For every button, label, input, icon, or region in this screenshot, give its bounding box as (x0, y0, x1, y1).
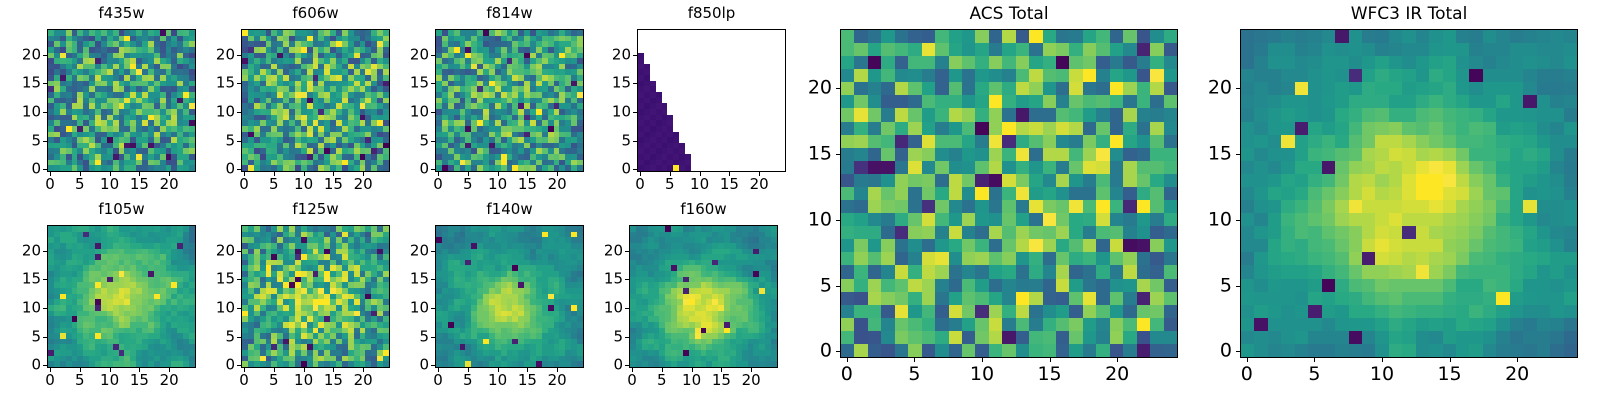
y-tick-f140w-5 (431, 337, 435, 338)
y-tick-wfc3_ir_total-10 (1236, 220, 1240, 221)
y-ticklabel-f850lp-5: 5 (621, 133, 631, 148)
x-tick-wfc3_ir_total-10 (1382, 358, 1383, 362)
panel-f125w: f125w0055101015152020 (181, 199, 404, 402)
x-ticklabel-f140w-0: 0 (433, 373, 443, 388)
y-tick-f606w-0 (237, 169, 241, 170)
x-ticklabel-wfc3_ir_total-20: 20 (1505, 365, 1529, 384)
y-tick-acs_total-0 (836, 351, 840, 352)
y-tick-f850lp-20 (633, 55, 637, 56)
y-ticklabel-f850lp-10: 10 (612, 104, 631, 119)
y-ticklabel-f160w-5: 5 (613, 329, 623, 344)
x-ticklabel-acs_total-5: 5 (908, 365, 920, 384)
y-ticklabel-f435w-15: 15 (22, 76, 41, 91)
panel-title-f435w: f435w (47, 6, 196, 21)
y-ticklabel-f160w-15: 15 (604, 272, 623, 287)
y-ticklabel-f125w-15: 15 (216, 272, 235, 287)
x-ticklabel-f160w-20: 20 (742, 373, 761, 388)
x-ticklabel-f125w-0: 0 (239, 373, 249, 388)
x-ticklabel-f814w-5: 5 (463, 177, 473, 192)
y-tick-f435w-0 (43, 169, 47, 170)
x-ticklabel-f606w-0: 0 (239, 177, 249, 192)
figure-panel-grid: f435w0055101015152020f606w00551010151520… (0, 0, 1600, 400)
y-tick-f125w-15 (237, 279, 241, 280)
heatmap-f435w (48, 30, 195, 171)
panel-title-f125w: f125w (241, 202, 390, 217)
x-ticklabel-acs_total-0: 0 (841, 365, 853, 384)
y-tick-f850lp-0 (633, 169, 637, 170)
panel-acs_total: ACS Total0055101015152020 (780, 3, 1192, 392)
y-tick-f435w-15 (43, 83, 47, 84)
x-tick-acs_total-15 (1050, 358, 1051, 362)
x-ticklabel-f160w-10: 10 (682, 373, 701, 388)
x-ticklabel-f140w-20: 20 (548, 373, 567, 388)
y-tick-f814w-15 (431, 83, 435, 84)
panel-f105w: f105w0055101015152020 (0, 199, 210, 402)
y-ticklabel-f140w-10: 10 (410, 300, 429, 315)
y-tick-f435w-10 (43, 112, 47, 113)
y-tick-f105w-20 (43, 251, 47, 252)
x-ticklabel-f814w-0: 0 (433, 177, 443, 192)
x-ticklabel-acs_total-15: 15 (1037, 365, 1061, 384)
y-ticklabel-f435w-0: 0 (31, 162, 41, 177)
x-tick-wfc3_ir_total-0 (1247, 358, 1248, 362)
y-tick-acs_total-15 (836, 154, 840, 155)
y-ticklabel-f850lp-20: 20 (612, 47, 631, 62)
y-ticklabel-wfc3_ir_total-15: 15 (1208, 145, 1232, 164)
y-tick-f606w-20 (237, 55, 241, 56)
y-tick-f160w-5 (625, 337, 629, 338)
x-ticklabel-f814w-10: 10 (488, 177, 507, 192)
x-ticklabel-f160w-0: 0 (627, 373, 637, 388)
y-tick-f140w-10 (431, 308, 435, 309)
y-tick-wfc3_ir_total-15 (1236, 154, 1240, 155)
panel-title-acs_total: ACS Total (840, 6, 1178, 23)
panel-title-f160w: f160w (629, 202, 778, 217)
x-ticklabel-acs_total-10: 10 (970, 365, 994, 384)
x-tick-wfc3_ir_total-20 (1517, 358, 1518, 362)
panel-f435w: f435w0055101015152020 (0, 3, 210, 206)
y-tick-f814w-20 (431, 55, 435, 56)
x-ticklabel-f850lp-10: 10 (690, 177, 709, 192)
y-tick-f125w-0 (237, 365, 241, 366)
heatmap-f850lp (638, 30, 785, 171)
y-tick-acs_total-20 (836, 88, 840, 89)
y-ticklabel-f814w-20: 20 (410, 47, 429, 62)
x-ticklabel-wfc3_ir_total-15: 15 (1437, 365, 1461, 384)
y-ticklabel-acs_total-0: 0 (820, 342, 832, 361)
panel-f140w: f140w0055101015152020 (375, 199, 598, 402)
x-tick-acs_total-20 (1117, 358, 1118, 362)
y-tick-f125w-10 (237, 308, 241, 309)
y-ticklabel-f160w-0: 0 (613, 358, 623, 373)
x-ticklabel-f435w-15: 15 (130, 177, 149, 192)
x-ticklabel-f435w-0: 0 (45, 177, 55, 192)
y-tick-f814w-10 (431, 112, 435, 113)
y-tick-f105w-0 (43, 365, 47, 366)
heatmap-wfc3_ir_total (1241, 30, 1577, 357)
x-ticklabel-f850lp-20: 20 (750, 177, 769, 192)
y-tick-f140w-20 (431, 251, 435, 252)
y-ticklabel-f435w-20: 20 (22, 47, 41, 62)
axes-f105w (47, 225, 196, 368)
x-ticklabel-f105w-20: 20 (160, 373, 179, 388)
panel-f850lp: f850lp0055101015152020 (577, 3, 800, 206)
y-ticklabel-f140w-0: 0 (419, 358, 429, 373)
panel-f160w: f160w0055101015152020 (569, 199, 792, 402)
axes-f125w (241, 225, 390, 368)
y-ticklabel-f606w-5: 5 (225, 133, 235, 148)
y-ticklabel-f105w-10: 10 (22, 300, 41, 315)
y-ticklabel-wfc3_ir_total-5: 5 (1220, 276, 1232, 295)
y-tick-f105w-10 (43, 308, 47, 309)
y-ticklabel-f160w-20: 20 (604, 243, 623, 258)
y-ticklabel-f105w-5: 5 (31, 329, 41, 344)
axes-f435w (47, 29, 196, 172)
y-ticklabel-f850lp-0: 0 (621, 162, 631, 177)
y-tick-f160w-15 (625, 279, 629, 280)
x-ticklabel-f105w-10: 10 (100, 373, 119, 388)
y-ticklabel-wfc3_ir_total-20: 20 (1208, 79, 1232, 98)
y-tick-f160w-20 (625, 251, 629, 252)
panel-title-wfc3_ir_total: WFC3 IR Total (1240, 6, 1578, 23)
heatmap-f140w (436, 226, 583, 367)
y-ticklabel-f606w-15: 15 (216, 76, 235, 91)
y-ticklabel-acs_total-20: 20 (808, 79, 832, 98)
x-ticklabel-wfc3_ir_total-5: 5 (1308, 365, 1320, 384)
y-tick-f105w-15 (43, 279, 47, 280)
y-tick-f606w-10 (237, 112, 241, 113)
axes-f814w (435, 29, 584, 172)
x-ticklabel-wfc3_ir_total-0: 0 (1241, 365, 1253, 384)
y-tick-wfc3_ir_total-0 (1236, 351, 1240, 352)
panel-title-f850lp: f850lp (637, 6, 786, 21)
y-ticklabel-f140w-20: 20 (410, 243, 429, 258)
y-ticklabel-f814w-15: 15 (410, 76, 429, 91)
y-ticklabel-f160w-10: 10 (604, 300, 623, 315)
y-ticklabel-f850lp-15: 15 (612, 76, 631, 91)
x-ticklabel-f850lp-15: 15 (720, 177, 739, 192)
x-ticklabel-f125w-15: 15 (324, 373, 343, 388)
heatmap-f160w (630, 226, 777, 367)
y-ticklabel-wfc3_ir_total-0: 0 (1220, 342, 1232, 361)
x-ticklabel-acs_total-20: 20 (1105, 365, 1129, 384)
axes-f160w (629, 225, 778, 368)
y-ticklabel-f435w-10: 10 (22, 104, 41, 119)
heatmap-f814w (436, 30, 583, 171)
x-ticklabel-f435w-5: 5 (75, 177, 85, 192)
x-ticklabel-f160w-15: 15 (712, 373, 731, 388)
x-ticklabel-f140w-15: 15 (518, 373, 537, 388)
panel-f814w: f814w0055101015152020 (375, 3, 598, 206)
axes-f606w (241, 29, 390, 172)
x-ticklabel-f435w-10: 10 (100, 177, 119, 192)
heatmap-f105w (48, 226, 195, 367)
axes-f850lp (637, 29, 786, 172)
y-tick-f814w-5 (431, 141, 435, 142)
y-tick-f814w-0 (431, 169, 435, 170)
x-ticklabel-f125w-5: 5 (269, 373, 279, 388)
x-ticklabel-f606w-20: 20 (354, 177, 373, 192)
y-tick-f850lp-15 (633, 83, 637, 84)
y-tick-f435w-5 (43, 141, 47, 142)
x-ticklabel-f160w-5: 5 (657, 373, 667, 388)
y-tick-wfc3_ir_total-20 (1236, 88, 1240, 89)
y-ticklabel-f105w-0: 0 (31, 358, 41, 373)
panel-title-f140w: f140w (435, 202, 584, 217)
x-ticklabel-f105w-0: 0 (45, 373, 55, 388)
y-tick-f125w-20 (237, 251, 241, 252)
y-tick-f850lp-10 (633, 112, 637, 113)
y-ticklabel-f606w-10: 10 (216, 104, 235, 119)
x-ticklabel-wfc3_ir_total-10: 10 (1370, 365, 1394, 384)
y-ticklabel-f435w-5: 5 (31, 133, 41, 148)
x-ticklabel-f435w-20: 20 (160, 177, 179, 192)
y-ticklabel-wfc3_ir_total-10: 10 (1208, 210, 1232, 229)
y-ticklabel-f814w-0: 0 (419, 162, 429, 177)
y-tick-acs_total-5 (836, 286, 840, 287)
x-ticklabel-f140w-5: 5 (463, 373, 473, 388)
y-ticklabel-f125w-0: 0 (225, 358, 235, 373)
x-ticklabel-f125w-20: 20 (354, 373, 373, 388)
x-ticklabel-f105w-15: 15 (130, 373, 149, 388)
y-ticklabel-f140w-15: 15 (410, 272, 429, 287)
heatmap-f606w (242, 30, 389, 171)
y-ticklabel-f606w-20: 20 (216, 47, 235, 62)
y-ticklabel-f105w-15: 15 (22, 272, 41, 287)
y-tick-f160w-0 (625, 365, 629, 366)
y-tick-acs_total-10 (836, 220, 840, 221)
x-ticklabel-f140w-10: 10 (488, 373, 507, 388)
y-ticklabel-f606w-0: 0 (225, 162, 235, 177)
x-ticklabel-f850lp-0: 0 (635, 177, 645, 192)
y-ticklabel-acs_total-10: 10 (808, 210, 832, 229)
y-tick-f140w-0 (431, 365, 435, 366)
x-tick-acs_total-0 (847, 358, 848, 362)
x-ticklabel-f125w-10: 10 (294, 373, 313, 388)
x-ticklabel-f606w-10: 10 (294, 177, 313, 192)
heatmap-acs_total (841, 30, 1177, 357)
y-tick-f435w-20 (43, 55, 47, 56)
y-ticklabel-f814w-10: 10 (410, 104, 429, 119)
y-tick-f160w-10 (625, 308, 629, 309)
panel-title-f814w: f814w (435, 6, 584, 21)
y-tick-f606w-15 (237, 83, 241, 84)
y-tick-f140w-15 (431, 279, 435, 280)
x-ticklabel-f105w-5: 5 (75, 373, 85, 388)
x-ticklabel-f606w-15: 15 (324, 177, 343, 192)
panel-title-f606w: f606w (241, 6, 390, 21)
y-tick-f105w-5 (43, 337, 47, 338)
panel-wfc3_ir_total: WFC3 IR Total0055101015152020 (1180, 3, 1592, 392)
x-tick-acs_total-5 (914, 358, 915, 362)
heatmap-f125w (242, 226, 389, 367)
y-ticklabel-f125w-20: 20 (216, 243, 235, 258)
y-ticklabel-f814w-5: 5 (419, 133, 429, 148)
axes-wfc3_ir_total (1240, 29, 1578, 358)
y-ticklabel-f125w-10: 10 (216, 300, 235, 315)
y-ticklabel-f125w-5: 5 (225, 329, 235, 344)
y-tick-f606w-5 (237, 141, 241, 142)
axes-acs_total (840, 29, 1178, 358)
panel-f606w: f606w0055101015152020 (181, 3, 404, 206)
x-tick-wfc3_ir_total-15 (1450, 358, 1451, 362)
x-ticklabel-f814w-15: 15 (518, 177, 537, 192)
y-ticklabel-f105w-20: 20 (22, 243, 41, 258)
y-ticklabel-f140w-5: 5 (419, 329, 429, 344)
y-tick-wfc3_ir_total-5 (1236, 286, 1240, 287)
x-tick-wfc3_ir_total-5 (1314, 358, 1315, 362)
y-tick-f125w-5 (237, 337, 241, 338)
x-tick-acs_total-10 (982, 358, 983, 362)
panel-title-f105w: f105w (47, 202, 196, 217)
axes-f140w (435, 225, 584, 368)
y-tick-f850lp-5 (633, 141, 637, 142)
x-ticklabel-f814w-20: 20 (548, 177, 567, 192)
y-ticklabel-acs_total-15: 15 (808, 145, 832, 164)
x-ticklabel-f850lp-5: 5 (665, 177, 675, 192)
y-ticklabel-acs_total-5: 5 (820, 276, 832, 295)
x-ticklabel-f606w-5: 5 (269, 177, 279, 192)
